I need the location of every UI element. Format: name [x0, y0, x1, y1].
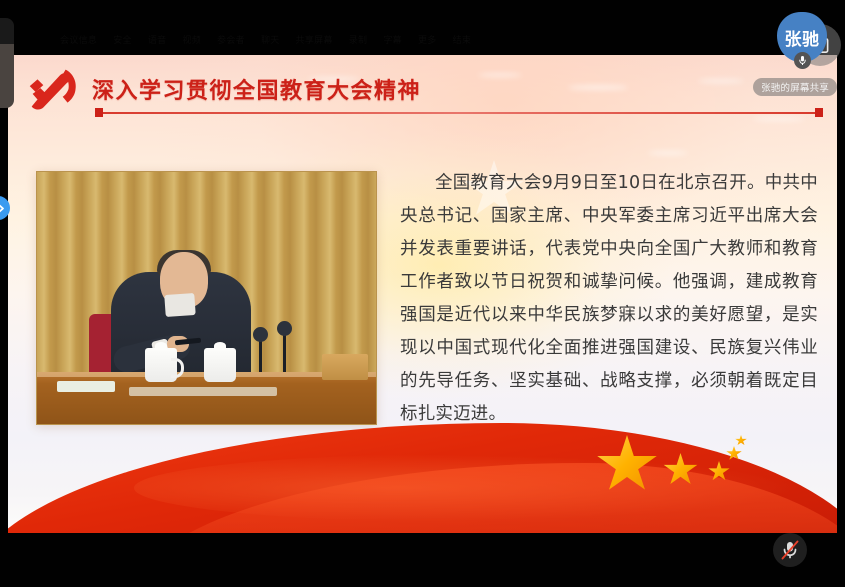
microphone-icon — [798, 55, 807, 66]
photo-speaker-collar — [164, 293, 195, 317]
toolbar-item-captions[interactable]: 字幕 — [383, 33, 402, 46]
title-divider — [96, 112, 821, 114]
presenter-mic-badge — [794, 52, 811, 69]
slide-photo — [36, 171, 377, 425]
screen-share-label: 张驰的屏幕共享 — [753, 78, 837, 96]
photo-paper-tray — [57, 381, 115, 392]
photo-teacup — [204, 348, 236, 382]
toolbar-item-more[interactable]: 更多 — [418, 33, 437, 46]
mute-status-indicator[interactable] — [773, 533, 807, 567]
presenter-avatar-initials: 张驰 — [785, 25, 820, 50]
toolbar-item-security[interactable]: 安全 — [113, 33, 132, 46]
toolbar-item-share-screen[interactable]: 共享屏幕 — [296, 33, 333, 46]
shared-screen-viewport: 深入学习贯彻全国教育大会精神 全国教育大会9 — [8, 55, 837, 533]
mouse-cursor-dot — [429, 495, 437, 503]
chevron-right-icon — [0, 203, 6, 214]
left-side-panel-tab[interactable] — [0, 30, 14, 108]
meeting-toolbar: 会议信息 安全 语音 视频 参会者 聊天 共享屏幕 录制 字幕 更多 结束 — [0, 22, 845, 56]
left-panel-tab-cap — [0, 18, 14, 44]
light-streak — [648, 151, 688, 155]
toolbar-item-meeting-info[interactable]: 会议信息 — [60, 33, 97, 46]
photo-teacup — [145, 348, 177, 382]
photo-nameplate — [322, 354, 368, 380]
toolbar-item-end[interactable]: 结束 — [453, 33, 472, 46]
toolbar-item-video[interactable]: 视频 — [182, 33, 201, 46]
toolbar-item-participants[interactable]: 参会者 — [217, 33, 245, 46]
microphone-muted-icon — [780, 539, 800, 561]
cpc-emblem-icon — [22, 59, 84, 121]
photo-document-tray — [129, 387, 277, 396]
slide-body-text: 全国教育大会9月9日至10日在北京召开。中共中央总书记、国家主席、中央军委主席习… — [400, 167, 818, 431]
slide-header: 深入学习贯彻全国教育大会精神 — [8, 55, 837, 130]
slide-title: 深入学习贯彻全国教育大会精神 — [92, 73, 421, 105]
toolbar-item-audio[interactable]: 语音 — [148, 33, 167, 46]
title-divider-cap-right — [815, 108, 823, 117]
title-divider-cap-left — [95, 108, 103, 117]
toolbar-item-record[interactable]: 录制 — [349, 33, 368, 46]
meeting-window: 会议信息 安全 语音 视频 参会者 聊天 共享屏幕 录制 字幕 更多 结束 — [0, 0, 845, 587]
toolbar-item-chat[interactable]: 聊天 — [261, 33, 280, 46]
